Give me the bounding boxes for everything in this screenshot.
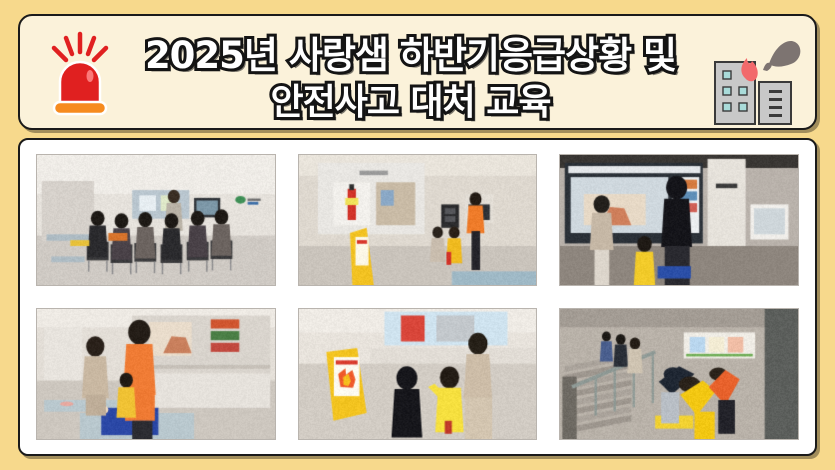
photo-grid: 교육장에서 수강생들이 의자에 앉아 스크린 발표를 보고 있는 모습 모의 훈… — [36, 154, 799, 440]
photo-gallery-card: 교육장에서 수강생들이 의자에 앉아 스크린 발표를 보고 있는 모습 모의 훈… — [18, 138, 817, 456]
photo-cell: 모의 훈련 슬라이드 앞에서 소화기 사용법을 실습하는 모습 — [298, 154, 538, 286]
burning-building-icon — [707, 24, 803, 130]
cpr-manikin-practice-photo — [37, 309, 275, 439]
classroom-lecture-photo — [37, 155, 275, 285]
fire-extinguisher-demo-photo — [299, 155, 537, 285]
fire-safety-signboard-photo — [299, 309, 537, 439]
siren-icon — [44, 28, 116, 120]
photo-cell: 계단에서 대피 훈련을 실시하는 모습 — [559, 308, 799, 440]
title-line-2: 안전사고 대처 교육 — [116, 79, 705, 126]
header-banner: 2025년 사랑샘 하반기응급상황 및 안전사고 대처 교육 — [18, 14, 817, 130]
evacuation-drill-stairs-photo — [560, 309, 798, 439]
photo-cell: 노란색 화재 안내 입간판 앞에서 설명을 듣는 모습 — [298, 308, 538, 440]
page-title: 2025년 사랑샘 하반기응급상황 및 안전사고 대처 교육 — [116, 32, 705, 126]
photo-cell: 마네킹을 이용해 심폐소생술을 실습하는 모습 — [36, 308, 276, 440]
title-line-1: 2025년 사랑샘 하반기응급상황 및 — [116, 32, 705, 79]
cpr-video-instruction-photo — [560, 155, 798, 285]
photo-cell: 대형 모니터 영상과 함께 심폐소생술 교육을 진행하는 모습 — [559, 154, 799, 286]
photo-cell: 교육장에서 수강생들이 의자에 앉아 스크린 발표를 보고 있는 모습 — [36, 154, 276, 286]
